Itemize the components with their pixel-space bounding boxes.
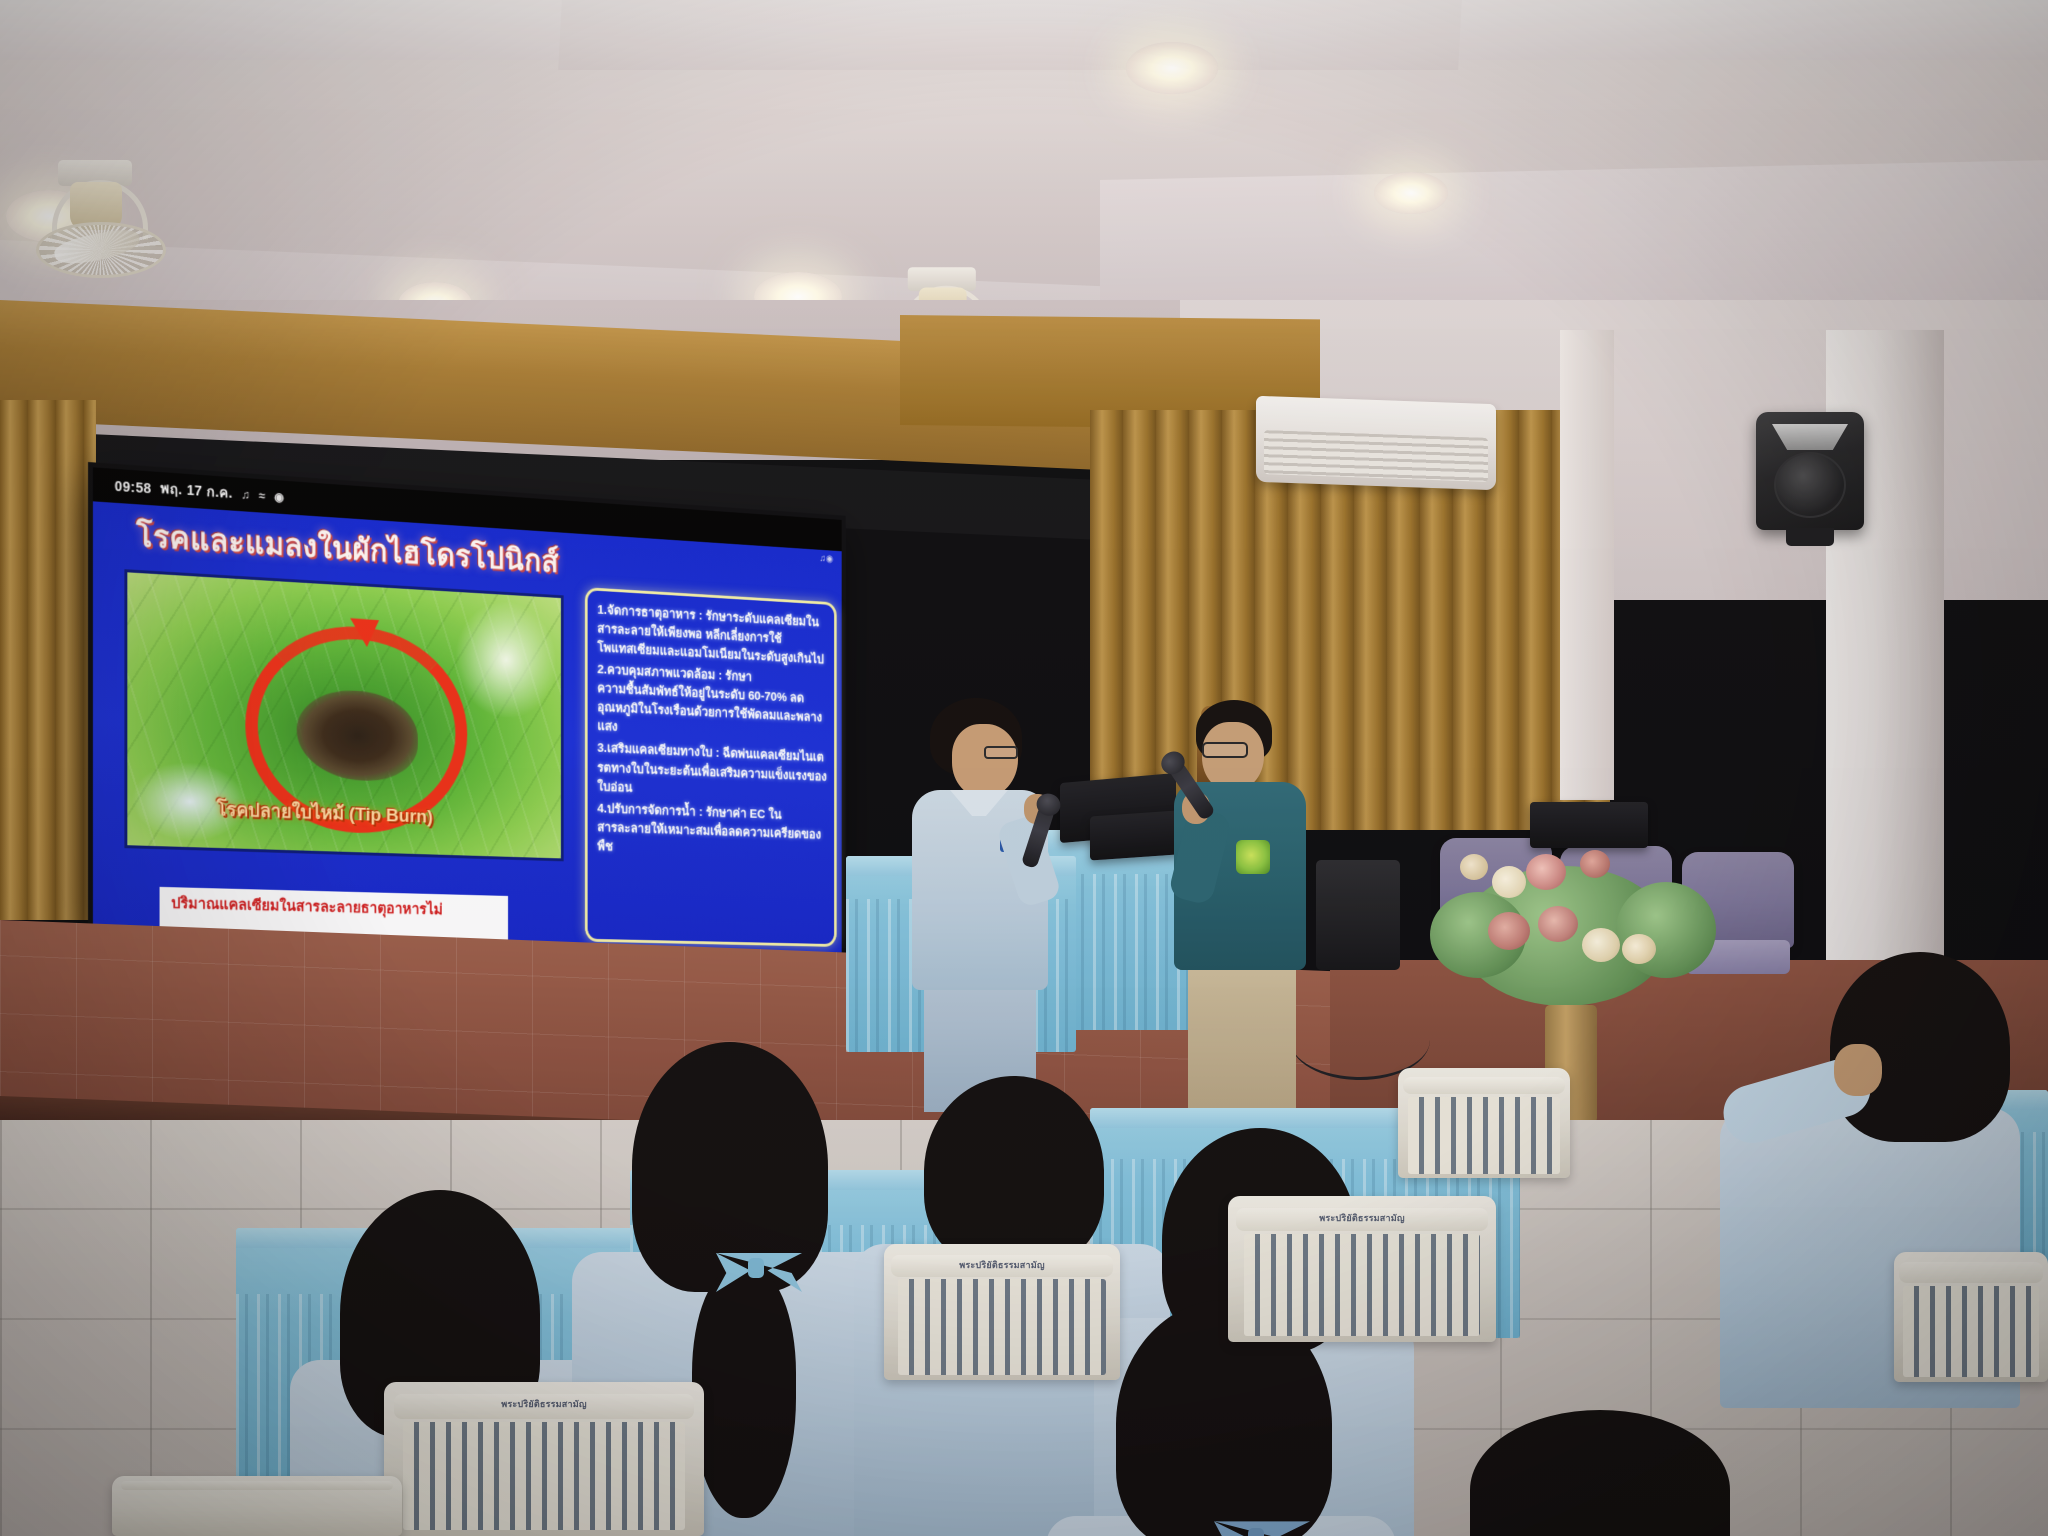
chair-rail	[1403, 1077, 1565, 1095]
hair-bow-knot	[1248, 1528, 1264, 1536]
speaker-mount	[1786, 528, 1834, 546]
chair-rail	[121, 1481, 394, 1491]
rose-pink	[1580, 850, 1610, 878]
chair-slats	[1244, 1234, 1480, 1336]
music-note-icon: ♫	[241, 488, 250, 502]
ac-vents	[1264, 430, 1488, 482]
recommendation-item-3: 3.เสริมแคลเซียมทางใบ : ฉีดพ่นแคลเซียมไนเ…	[597, 739, 827, 805]
presenter-trousers	[1188, 962, 1296, 1112]
student-ponytail	[692, 1268, 796, 1518]
plastic-chair[interactable]: พระปริยัติธรรมสามัญ	[384, 1382, 704, 1536]
chair-label: พระปริยัติธรรมสามัญ	[1228, 1211, 1496, 1225]
presenter-face	[952, 724, 1018, 798]
pa-speaker	[1756, 412, 1864, 530]
student-hand	[1834, 1044, 1882, 1096]
leaf-highlight	[456, 600, 555, 720]
chair-slats	[403, 1422, 685, 1530]
rose-pink	[1538, 906, 1578, 942]
plastic-chair[interactable]	[1894, 1252, 2048, 1382]
curtain-left	[0, 400, 96, 920]
chair-slats	[898, 1279, 1106, 1374]
ceiling-light-5	[1374, 172, 1448, 214]
plastic-chair[interactable]: พระปริยัติธรรมสามัญ	[884, 1244, 1120, 1380]
rose-pink	[1526, 854, 1566, 890]
chair-label: พระปริยัติธรรมสามัญ	[384, 1397, 704, 1411]
ceiling-recess	[558, 0, 1462, 70]
rose-cream	[1492, 866, 1526, 898]
rose-pink	[1488, 912, 1530, 950]
eyeglasses-icon	[1202, 742, 1248, 758]
plastic-chair[interactable]: พระปริยัติธรรมสามัญ	[1228, 1196, 1496, 1342]
chair-label: พระปริยัติธรรมสามัญ	[884, 1258, 1120, 1272]
eyeglasses-icon	[984, 746, 1018, 759]
chair-rail	[1899, 1262, 2044, 1283]
wifi-icon: ≈	[259, 489, 266, 503]
recommendation-item-2: 2.ควบคุมสภาพแวดล้อม : รักษาความชื้นสัมพั…	[597, 660, 827, 746]
chair-slats	[1903, 1286, 2039, 1377]
floor-monitor-speaker	[1316, 860, 1400, 970]
plastic-chair[interactable]	[112, 1476, 402, 1536]
status-date: พฤ. 17 ก.ค.	[160, 478, 232, 505]
led-presentation-screen[interactable]: 09:58 พฤ. 17 ก.ค. ♫ ≈ ◉ ♫◉ โรคและแมลงในผ…	[88, 462, 846, 948]
recommendation-item-1: 1.จัดการธาตุอาหาร : รักษาระดับแคลเซียมใน…	[597, 600, 827, 669]
plastic-chair[interactable]	[1398, 1068, 1570, 1178]
auditorium-scene: 09:58 พฤ. 17 ก.ค. ♫ ≈ ◉ ♫◉ โรคและแมลงในผ…	[0, 0, 2048, 1536]
rose-cream	[1460, 854, 1488, 880]
speaker-cone	[1774, 452, 1846, 518]
presenter-right	[1174, 700, 1324, 1120]
speaker-horn	[1772, 424, 1848, 450]
ceiling-light-4	[1126, 42, 1218, 94]
presenter-left	[912, 698, 1062, 1118]
foliage	[1616, 882, 1716, 978]
air-conditioner	[1256, 396, 1496, 490]
rose-cream	[1622, 934, 1656, 964]
rose-cream	[1582, 928, 1620, 962]
recommendation-item-4: 4.ปรับการจัดการน้ำ : รักษาค่า EC ในสารละ…	[597, 799, 827, 863]
shirt-logo	[1236, 840, 1270, 874]
wall-pillar-center	[1560, 330, 1614, 800]
flower-arrangement	[1430, 830, 1720, 1030]
hair-bow-knot	[748, 1258, 764, 1278]
status-time: 09:58	[115, 478, 152, 496]
ceiling-fan-left	[30, 160, 180, 290]
chair-slats	[1408, 1097, 1559, 1174]
slide-canvas: ♫◉ โรคและแมลงในผักไฮโดรโปนิกส์ โรคปลายใบ…	[93, 501, 842, 952]
battery-icon: ◉	[274, 490, 284, 504]
slide-leaf-photo: โรคปลายใบไหม้ (Tip Burn)	[124, 569, 563, 861]
student-hair	[924, 1076, 1104, 1268]
slide-recommendations-panel: 1.จัดการธาตุอาหาร : รักษาระดับแคลเซียมใน…	[585, 587, 837, 947]
slide-corner-icons: ♫◉	[820, 553, 834, 564]
